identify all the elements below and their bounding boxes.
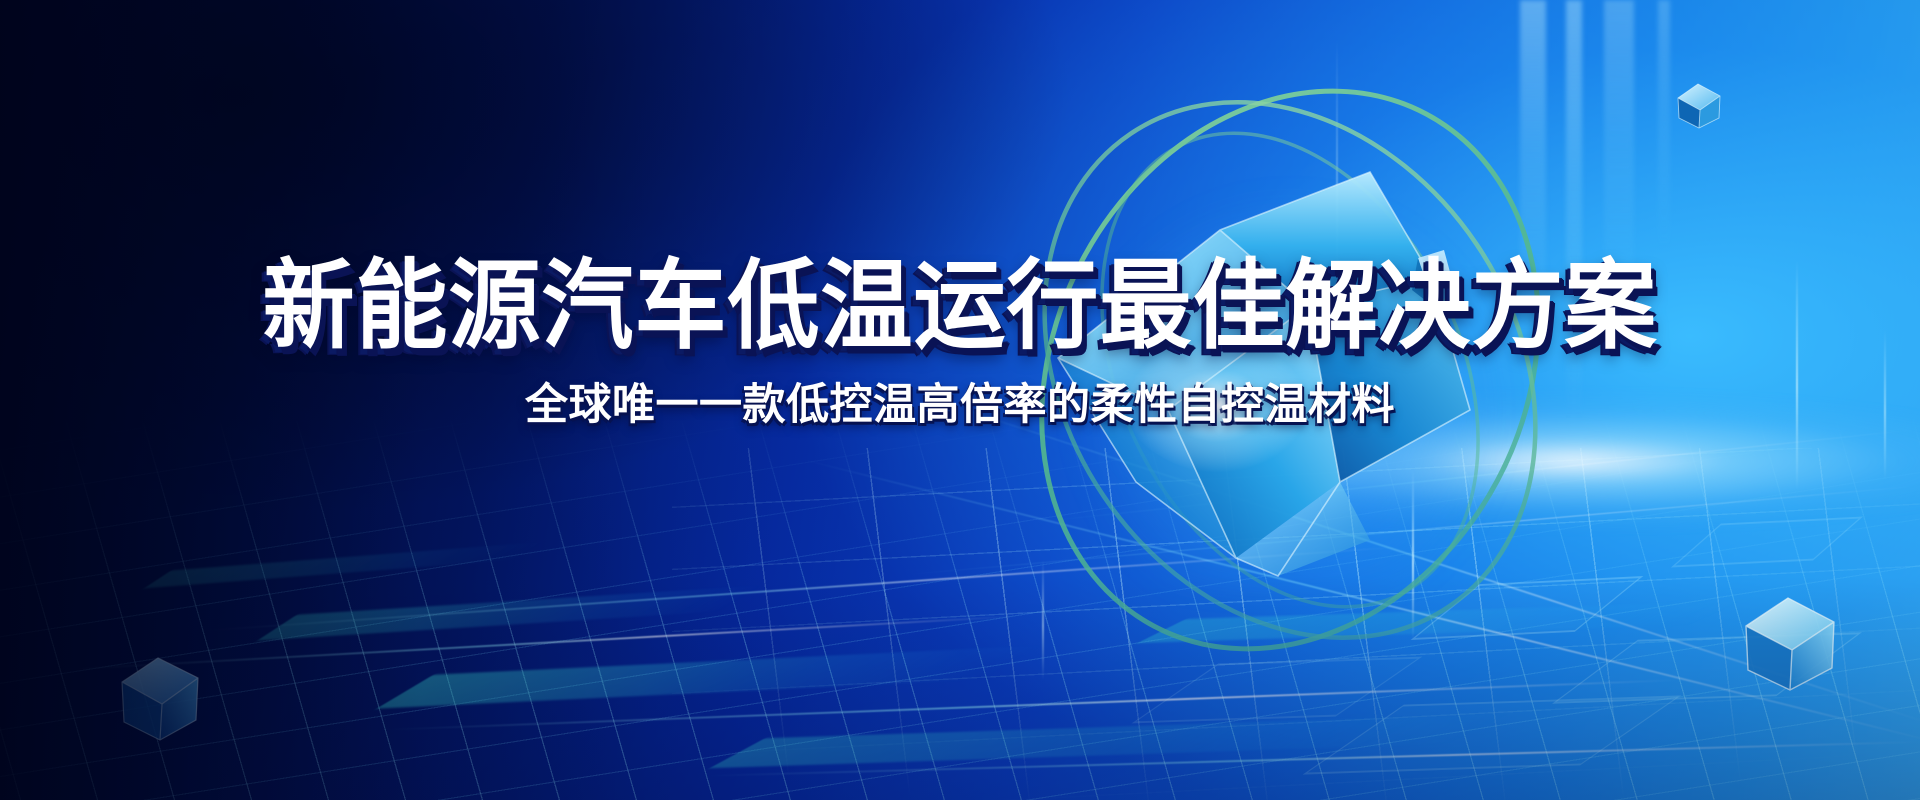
page-title: 新能源汽车低温运行最佳解决方案: [262, 258, 1657, 356]
page-subtitle: 全球唯一一款低控温高倍率的柔性自控温材料: [525, 384, 1395, 427]
text-block: 新能源汽车低温运行最佳解决方案 全球唯一一款低控温高倍率的柔性自控温材料: [0, 0, 1920, 800]
hero-banner: 新能源汽车低温运行最佳解决方案 全球唯一一款低控温高倍率的柔性自控温材料: [0, 0, 1920, 800]
